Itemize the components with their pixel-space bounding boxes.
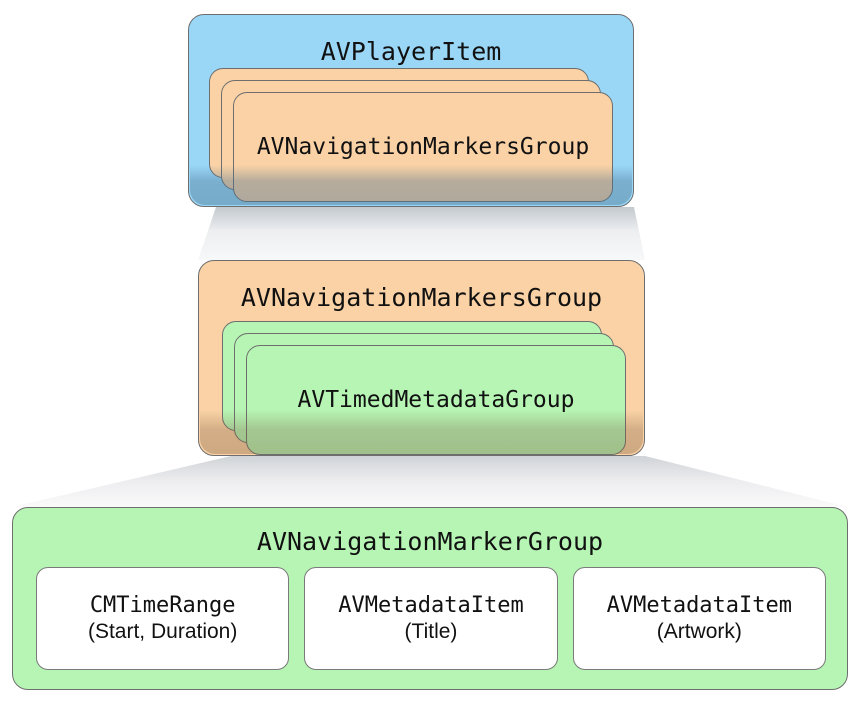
box-avnavigationmarkergroup-title: AVNavigationMarkerGroup bbox=[13, 527, 847, 556]
leaf-card-cmtimerange-type: CMTimeRange bbox=[90, 593, 236, 619]
leaf-card-avmetadataitem-title-type: AVMetadataItem bbox=[338, 593, 523, 619]
leaf-card-cmtimerange-detail: (Start, Duration) bbox=[88, 619, 237, 644]
box-avplayeritem[interactable]: AVPlayerItem AVNavigationMarkersGroup bbox=[188, 14, 634, 207]
card-avnavigationmarkersgroup-label: AVNavigationMarkersGroup bbox=[234, 134, 612, 160]
box-avnavigationmarkersgroup-title: AVNavigationMarkersGroup bbox=[199, 283, 644, 312]
box-avnavigationmarkergroup[interactable]: AVNavigationMarkerGroup CMTimeRange (Sta… bbox=[12, 507, 848, 690]
box-avnavigationmarkersgroup[interactable]: AVNavigationMarkersGroup AVTimedMetadata… bbox=[198, 260, 645, 456]
leaf-card-avmetadataitem-artwork-type: AVMetadataItem bbox=[607, 593, 792, 619]
leaf-card-avmetadataitem-title-detail: (Title) bbox=[405, 619, 458, 644]
leaf-card-avmetadataitem-title[interactable]: AVMetadataItem (Title) bbox=[304, 567, 557, 670]
card-avtimedmetadatagroup-label: AVTimedMetadataGroup bbox=[247, 387, 625, 413]
leaf-card-avmetadataitem-artwork[interactable]: AVMetadataItem (Artwork) bbox=[573, 567, 826, 670]
box-avplayeritem-title: AVPlayerItem bbox=[189, 37, 633, 66]
leaf-card-avmetadataitem-artwork-detail: (Artwork) bbox=[657, 619, 742, 644]
leaf-card-cmtimerange[interactable]: CMTimeRange (Start, Duration) bbox=[36, 567, 289, 670]
card-avnavigationmarkersgroup-front[interactable]: AVNavigationMarkersGroup bbox=[233, 92, 613, 202]
leaf-card-row: CMTimeRange (Start, Duration) AVMetadata… bbox=[36, 567, 826, 670]
diagram-canvas: AVPlayerItem AVNavigationMarkersGroup AV… bbox=[0, 0, 861, 702]
card-avtimedmetadatagroup-front[interactable]: AVTimedMetadataGroup bbox=[246, 345, 626, 455]
